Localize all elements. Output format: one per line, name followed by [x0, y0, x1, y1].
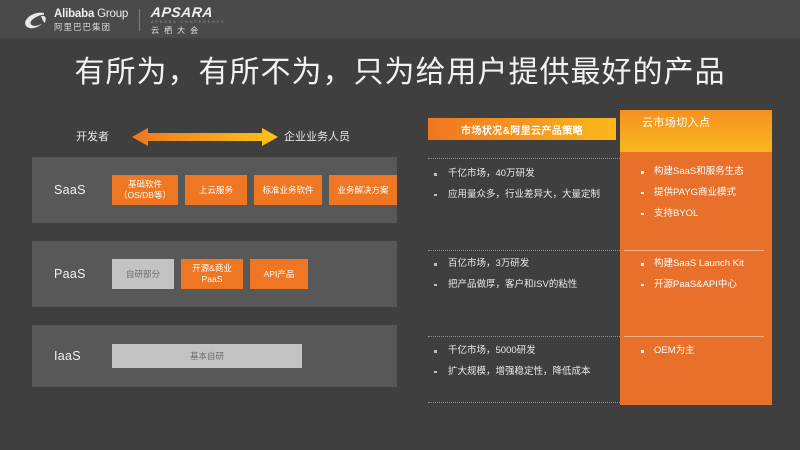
- alibaba-en-light: Group: [94, 8, 128, 20]
- strategy-header-bar: 市场状况&阿里云产品策略: [428, 118, 616, 140]
- layer-label-saas: SaaS: [54, 183, 86, 197]
- market-bullet-2-0: 百亿市场，3万研发: [428, 258, 616, 271]
- audience-label-developer: 开发者: [76, 128, 109, 144]
- double-arrow-icon: [132, 127, 278, 147]
- alibaba-en-bold: Alibaba: [54, 8, 94, 20]
- page-title: 有所为，有所不为，只为给用户提供最好的产品: [0, 47, 800, 91]
- chip-saas-3[interactable]: 业务解决方案: [329, 175, 397, 205]
- layer-chips-saas: 基础软件 （OS/DB等） 上云服务 标准业务软件 业务解决方案: [112, 175, 397, 205]
- slide-canvas: Alibaba Group 阿里巴巴集团 APSARA APSARA CONFE…: [0, 0, 800, 450]
- divider-row1-row2: [428, 250, 620, 251]
- chip-paas-1[interactable]: 开源&商业 PaaS: [181, 259, 243, 289]
- divider-top: [428, 158, 620, 159]
- stack-diagram: 开发者 企业业务人员 SaaS 基础软件 （OS/DB等） 上云服务 标准业务: [32, 110, 397, 400]
- chip-saas-2[interactable]: 标准业务软件: [254, 175, 322, 205]
- apsara-cn-text: 云栖大会: [151, 27, 226, 35]
- chip-paas-0[interactable]: 自研部分: [112, 259, 174, 289]
- strategy-section: 云市场切入点 市场状况&阿里云产品策略 千亿市场，40万研发 应用量众多，行业差…: [424, 110, 772, 405]
- alibaba-en-text: Alibaba Group: [54, 9, 128, 21]
- apsara-en-text: APSARA: [150, 5, 226, 19]
- layer-panel-paas: PaaS 自研部分 开源&商业 PaaS API产品: [32, 241, 397, 307]
- divider-bottom: [428, 402, 620, 403]
- layer-label-iaas: IaaS: [54, 349, 81, 363]
- entry-bullets-1: 构建SaaS和服务生态 提供PAYG商业模式 支持BYOL: [636, 166, 772, 220]
- entry-point-header: 云市场切入点: [620, 110, 772, 152]
- audience-label-enterprise: 企业业务人员: [284, 128, 350, 144]
- chip-saas-0[interactable]: 基础软件 （OS/DB等）: [112, 175, 178, 205]
- entry-bullet-2-1: 开源PaaS&API中心: [636, 279, 772, 292]
- market-row-2: 百亿市场，3万研发 把产品做厚，客户和ISV的粘性: [428, 258, 616, 300]
- market-bullet-1-0: 千亿市场，40万研发: [428, 168, 616, 181]
- entry-row-3: OEM为主: [620, 345, 772, 366]
- entry-divider-row1-row2: [624, 250, 764, 251]
- market-bullet-3-1: 扩大规模，增强稳定性，降低成本: [428, 366, 616, 379]
- strategy-header-label: 市场状况&阿里云产品策略: [461, 122, 583, 137]
- market-bullet-2-1: 把产品做厚，客户和ISV的粘性: [428, 279, 616, 292]
- alibaba-smile-icon: [24, 10, 50, 30]
- logo-separator: [139, 9, 140, 31]
- layer-chips-paas: 自研部分 开源&商业 PaaS API产品: [112, 259, 308, 289]
- brand-logo-group: Alibaba Group 阿里巴巴集团 APSARA APSARA CONFE…: [24, 8, 226, 32]
- apsara-en-subtitle: APSARA CONFERENCE: [151, 21, 226, 25]
- alibaba-cn-text: 阿里巴巴集团: [54, 23, 128, 32]
- entry-bullets-3: OEM为主: [636, 345, 772, 358]
- market-bullets-1: 千亿市场，40万研发 应用量众多，行业差异大，大量定制: [428, 168, 616, 202]
- layer-panel-iaas: IaaS 基本自研: [32, 325, 397, 387]
- market-bullet-3-0: 千亿市场，5000研发: [428, 345, 616, 358]
- chip-iaas-0[interactable]: 基本自研: [112, 344, 302, 368]
- layer-chips-iaas: 基本自研: [112, 344, 302, 368]
- entry-bullet-3-0: OEM为主: [636, 345, 772, 358]
- chip-paas-2[interactable]: API产品: [250, 259, 308, 289]
- market-row-3: 千亿市场，5000研发 扩大规模，增强稳定性，降低成本: [428, 345, 616, 387]
- entry-bullets-2: 构建SaaS Launch Kit 开源PaaS&API中心: [636, 258, 772, 292]
- entry-row-1: 构建SaaS和服务生态 提供PAYG商业模式 支持BYOL: [620, 166, 772, 228]
- alibaba-wordmark: Alibaba Group 阿里巴巴集团: [54, 9, 128, 31]
- audience-row: 开发者 企业业务人员: [32, 124, 397, 150]
- chip-saas-1[interactable]: 上云服务: [185, 175, 247, 205]
- entry-bullet-2-0: 构建SaaS Launch Kit: [636, 258, 772, 271]
- market-bullets-2: 百亿市场，3万研发 把产品做厚，客户和ISV的粘性: [428, 258, 616, 292]
- entry-divider-row2-row3: [624, 336, 764, 337]
- layer-panel-saas: SaaS 基础软件 （OS/DB等） 上云服务 标准业务软件 业务解决方案: [32, 157, 397, 223]
- entry-bullet-1-2: 支持BYOL: [636, 208, 772, 221]
- entry-bullet-1-0: 构建SaaS和服务生态: [636, 166, 772, 179]
- apsara-wordmark: APSARA APSARA CONFERENCE 云栖大会: [151, 5, 226, 34]
- market-bullets-3: 千亿市场，5000研发 扩大规模，增强稳定性，降低成本: [428, 345, 616, 379]
- entry-bullet-1-1: 提供PAYG商业模式: [636, 187, 772, 200]
- market-bullet-1-1: 应用量众多，行业差异大，大量定制: [428, 189, 616, 202]
- entry-row-2: 构建SaaS Launch Kit 开源PaaS&API中心: [620, 258, 772, 300]
- logo-bar: Alibaba Group 阿里巴巴集团 APSARA APSARA CONFE…: [0, 0, 800, 38]
- market-row-1: 千亿市场，40万研发 应用量众多，行业差异大，大量定制: [428, 168, 616, 210]
- divider-row2-row3: [428, 336, 620, 337]
- entry-point-header-label: 云市场切入点: [642, 116, 756, 130]
- layer-label-paas: PaaS: [54, 267, 86, 281]
